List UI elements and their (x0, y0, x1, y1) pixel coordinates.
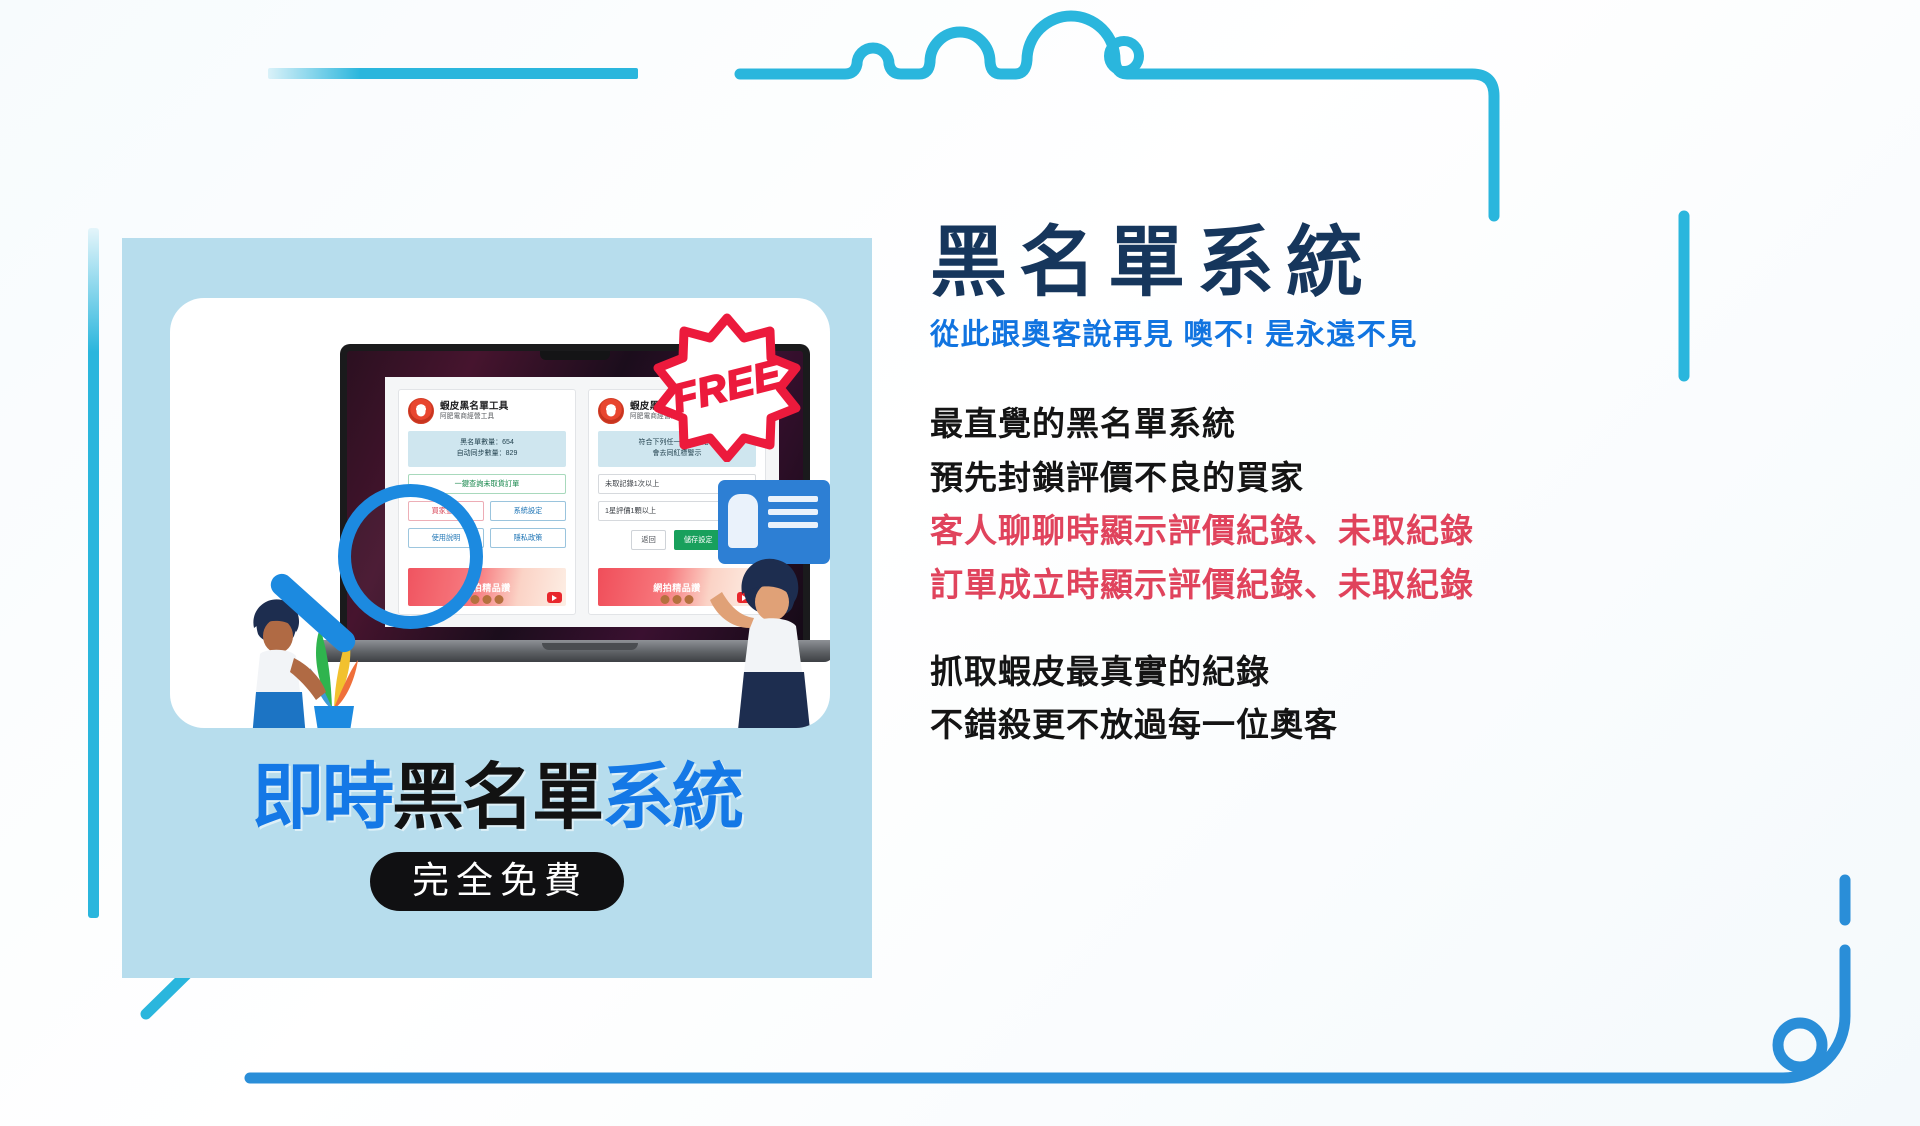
feature-line: 預先封鎖評價不良的買家 (930, 451, 1750, 504)
promo-card: 蝦皮黑名單工具 阿肥電商經營工具 黑名單數量：654 自动同步數量：829 一鍵… (122, 238, 872, 978)
back-button[interactable]: 返回 (631, 530, 665, 550)
promo-banner-left[interactable]: 網拍精品讚 (408, 568, 566, 606)
laptop-notch (540, 351, 610, 360)
laptop-base-notch (542, 643, 638, 650)
app-brand-subtitle: 阿肥電商經營工具 (440, 414, 509, 421)
promo-card-banner: 即時黑名單系統 完全免費 (122, 748, 872, 978)
free-pill-badge: 完全免費 (370, 852, 624, 911)
feature-line: 訂單成立時顯示評價紀錄、未取紀錄 (930, 558, 1750, 611)
feature-list: 最直覺的黑名單系統 預先封鎖評價不良的買家 客人聊聊時顯示評價紀錄、未取紀錄 訂… (930, 397, 1750, 752)
buyer-lookup-button[interactable]: 買家查詢 (408, 501, 484, 521)
promo-banner-right-text: 網拍精品讚 (653, 581, 701, 594)
system-settings-button[interactable]: 系統設定 (490, 501, 566, 521)
closing-line: 不錯殺更不放過每一位奧客 (930, 698, 1750, 751)
query-unclaimed-orders-button[interactable]: 一鍵查詢未取貨訂單 (408, 474, 566, 494)
promo-banner-right-icons (661, 595, 694, 604)
promo-banner-title-part3: 系統 (602, 758, 742, 838)
deco-bottom-right-corner (1770, 950, 1845, 1078)
free-badge: FREE (652, 312, 802, 462)
deco-top-node-circle (1109, 41, 1139, 71)
person-right-illustration (710, 548, 830, 728)
save-settings-button[interactable]: 儲存設定 (674, 530, 723, 550)
app-panel-left: 蝦皮黑名單工具 阿肥電商經營工具 黑名單數量：654 自动同步數量：829 一鍵… (398, 389, 576, 615)
deco-top-circuit-path (740, 16, 1494, 216)
promo-banner-title-part2: 黑名單 (392, 758, 602, 838)
feature-list-spacer (930, 611, 1750, 645)
shield-crest-icon (598, 398, 624, 424)
usage-guide-button[interactable]: 使用說明 (408, 528, 484, 548)
feature-line: 最直覺的黑名單系統 (930, 397, 1750, 450)
feature-line: 客人聊聊時顯示評價紀錄、未取紀錄 (930, 504, 1750, 557)
youtube-icon[interactable] (547, 592, 562, 603)
promo-banner-title: 即時黑名單系統 (252, 762, 742, 834)
page-title: 黑名單系統 (930, 222, 1750, 305)
page-subtitle: 從此跟奧客說再見 噢不! 是永遠不見 (930, 311, 1750, 353)
deco-bottom-node-circle (1778, 1023, 1822, 1067)
promo-banner-left-icons (471, 595, 504, 604)
app-brand-title: 蝦皮黑名單工具 (440, 402, 509, 412)
deco-left-vertical-bar (88, 228, 99, 918)
hero-text-column: 黑名單系統 從此跟奧客說再見 噢不! 是永遠不見 最直覺的黑名單系統 預先封鎖評… (930, 222, 1750, 752)
person-left-illustration (230, 588, 326, 728)
promo-banner-left-text: 網拍精品讚 (463, 581, 511, 594)
panel-left-header: 蝦皮黑名單工具 阿肥電商經營工具 (408, 398, 566, 424)
privacy-policy-button[interactable]: 隱私政策 (490, 528, 566, 548)
promo-banner-title-part1: 即時 (252, 758, 392, 838)
closing-line: 抓取蝦皮最真實的紀錄 (930, 645, 1750, 698)
promo-illustration-panel: 蝦皮黑名單工具 阿肥電商經營工具 黑名單數量：654 自动同步數量：829 一鍵… (170, 298, 830, 728)
shield-crest-icon (408, 398, 434, 424)
stat-blacklist-count: 黑名單數量：654 (414, 438, 560, 449)
deco-top-dash (268, 68, 638, 79)
stat-sync-count: 自动同步數量：829 (414, 449, 560, 460)
blacklist-stats-box: 黑名單數量：654 自动同步數量：829 (408, 431, 566, 467)
